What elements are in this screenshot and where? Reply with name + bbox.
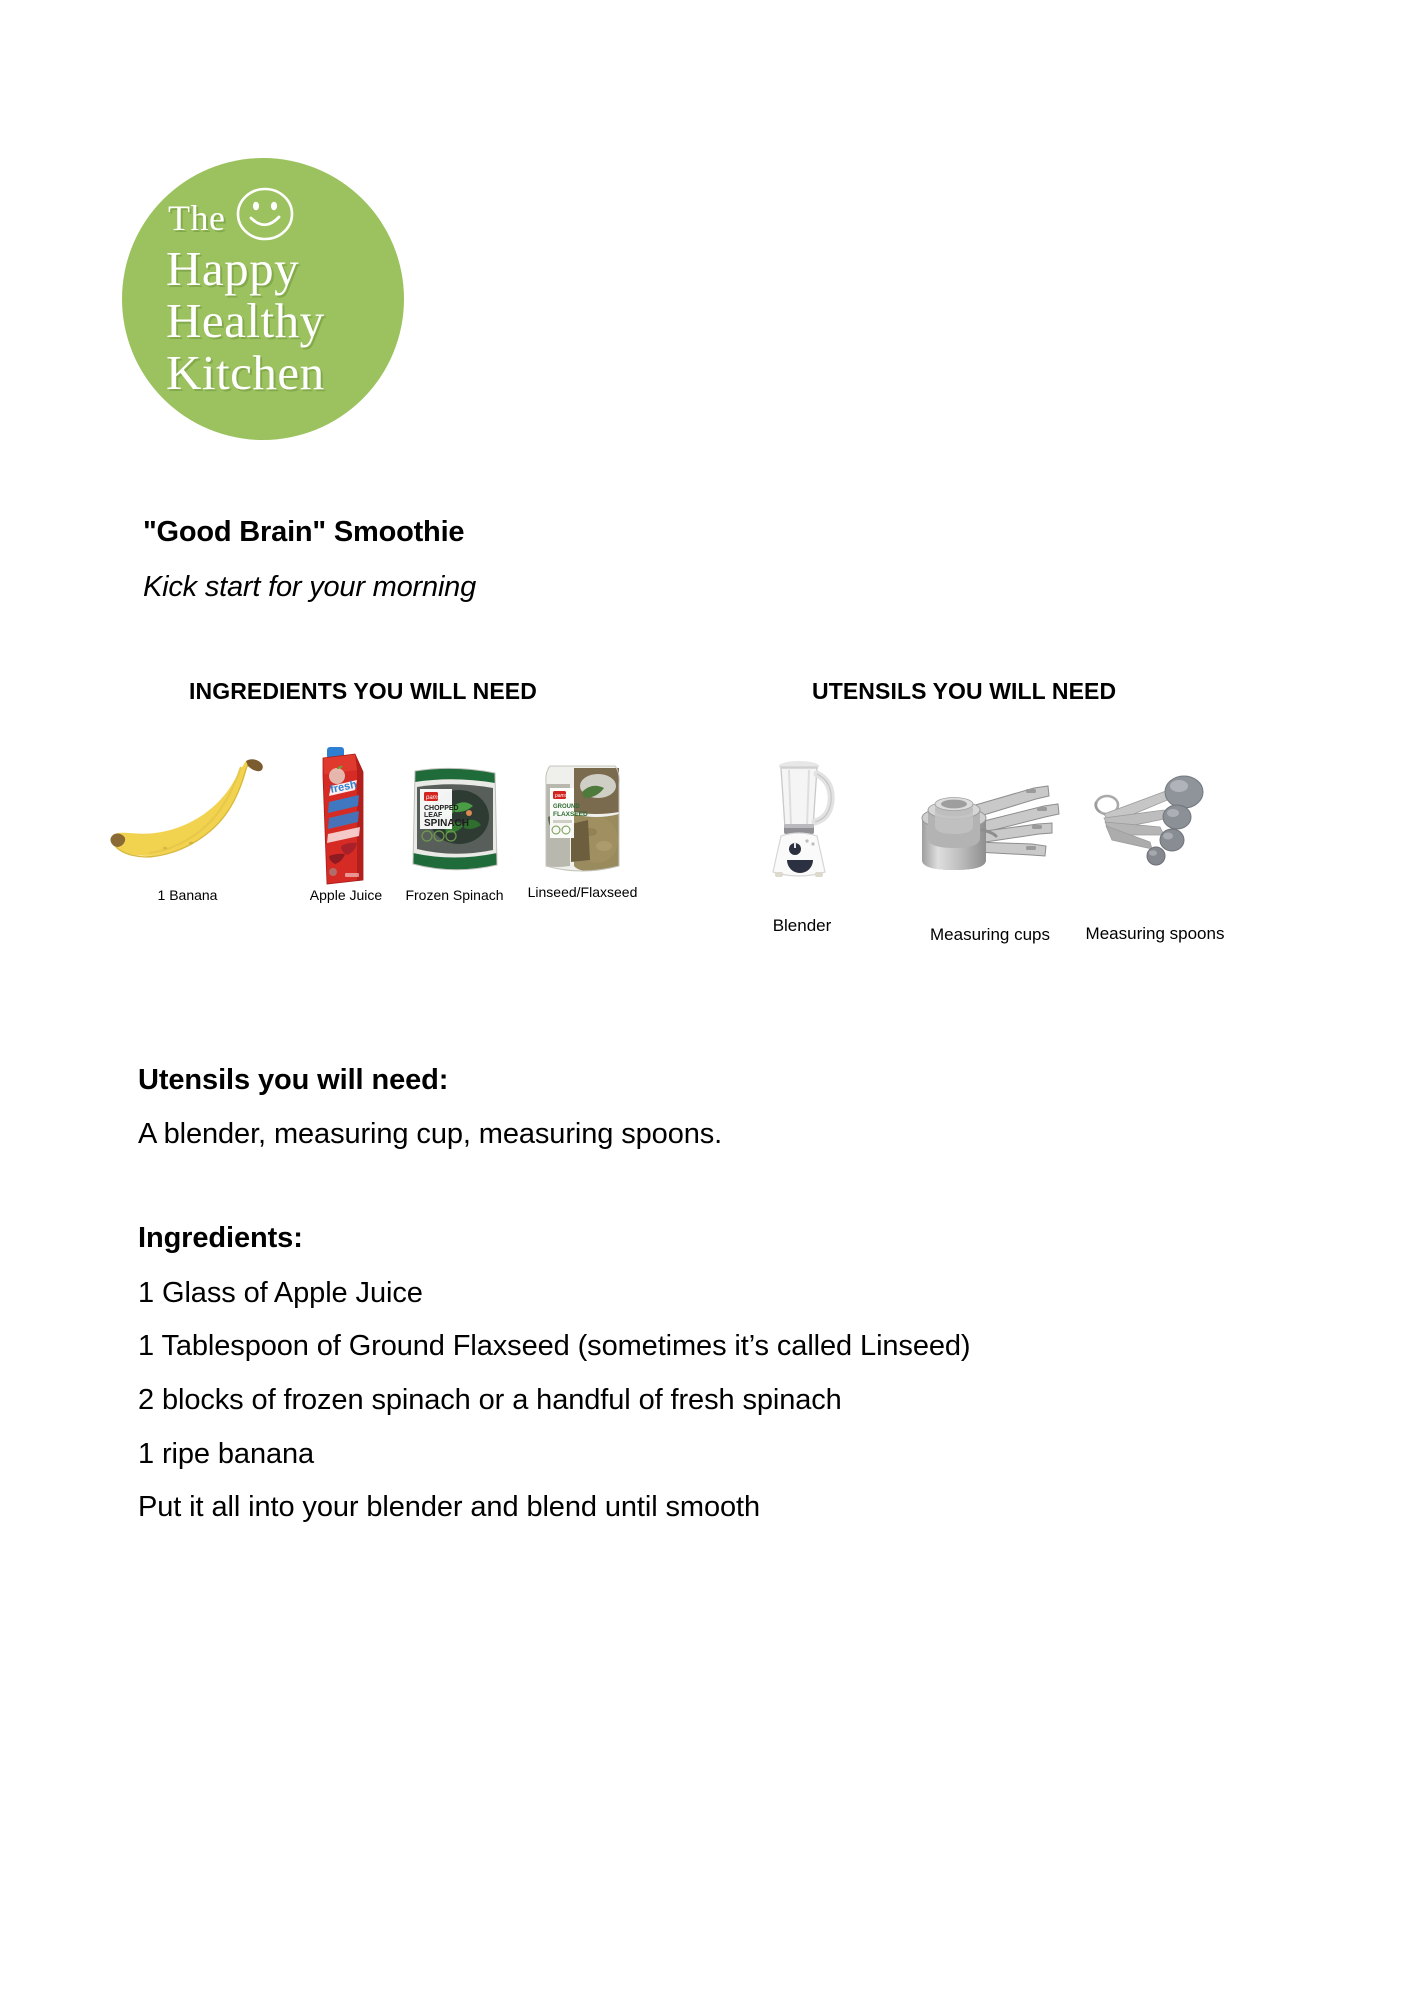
juice-carton-icon: fresh — [311, 746, 381, 886]
apple-juice-art: fresh — [311, 746, 381, 886]
banana-icon — [105, 755, 270, 880]
utensils-section-heading: Utensils you will need: — [138, 1064, 448, 1097]
blender-icon — [765, 756, 839, 888]
svg-text:SPINACH: SPINACH — [424, 818, 469, 829]
ingredient-item-flaxseed: pams GROUND FLAXSEED Linseed/Flaxseed — [540, 762, 625, 880]
svg-text:pams: pams — [425, 795, 441, 801]
svg-text:pams: pams — [554, 793, 568, 799]
ingredient-line: 2 blocks of frozen spinach or a handful … — [138, 1384, 842, 1417]
utensils-panel-heading: UTENSILS YOU WILL NEED — [812, 678, 1116, 705]
logo-word-the: The — [168, 200, 225, 236]
spinach-bag-icon: pams CHOPPED LEAF SPINACH — [407, 765, 502, 877]
svg-text:GROUND: GROUND — [553, 804, 580, 810]
measuring-cups-art — [906, 770, 1074, 884]
ingredient-item-banana: 1 Banana — [105, 755, 270, 880]
ingredient-caption-flaxseed: Linseed/Flaxseed — [528, 884, 638, 900]
ingredient-line: 1 ripe banana — [138, 1438, 314, 1471]
svg-text:FLAXSEED: FLAXSEED — [553, 811, 588, 818]
ingredient-item-frozen-spinach: pams CHOPPED LEAF SPINACH Frozen Spinach — [407, 765, 502, 877]
utensil-item-measuring-cups: Measuring cups — [906, 770, 1074, 884]
smiley-face-icon — [234, 186, 296, 242]
svg-text:CHOPPED: CHOPPED — [424, 805, 459, 812]
frozen-spinach-art: pams CHOPPED LEAF SPINACH — [407, 765, 502, 877]
ingredient-line: 1 Glass of Apple Juice — [138, 1277, 423, 1310]
ingredient-line: Put it all into your blender and blend u… — [138, 1491, 760, 1524]
utensil-caption-measuring-spoons: Measuring spoons — [1086, 924, 1225, 944]
ingredient-caption-banana: 1 Banana — [158, 887, 218, 903]
measuring-spoons-icon — [1080, 772, 1230, 884]
utensils-section-text: A blender, measuring cup, measuring spoo… — [138, 1118, 722, 1151]
blender-art — [765, 756, 839, 888]
logo-wordmark: The Happy Healthy Kitchen — [122, 158, 404, 440]
ingredients-panel-heading: INGREDIENTS YOU WILL NEED — [189, 678, 537, 705]
ingredients-section-heading: Ingredients: — [138, 1222, 303, 1255]
ingredient-line: 1 Tablespoon of Ground Flaxseed (sometim… — [138, 1330, 970, 1363]
logo-word-happy: Happy — [166, 244, 299, 293]
ingredient-caption-frozen-spinach: Frozen Spinach — [405, 887, 503, 903]
logo-word-healthy: Healthy — [166, 296, 325, 345]
utensil-item-blender: Blender — [765, 756, 839, 888]
utensil-caption-blender: Blender — [773, 916, 832, 936]
measuring-spoons-art — [1080, 772, 1230, 884]
logo-word-kitchen: Kitchen — [166, 348, 325, 397]
ingredient-caption-apple-juice: Apple Juice — [310, 887, 382, 903]
flaxseed-pouch-icon: pams GROUND FLAXSEED — [540, 762, 625, 880]
utensil-item-measuring-spoons: Measuring spoons — [1080, 772, 1230, 884]
flaxseed-art: pams GROUND FLAXSEED — [540, 762, 625, 880]
utensil-caption-measuring-cups: Measuring cups — [930, 925, 1050, 945]
ingredient-item-apple-juice: fresh Apple Juice — [311, 746, 381, 886]
brand-logo: The Happy Healthy Kitchen — [122, 158, 404, 440]
banana-art — [105, 755, 270, 880]
page-subtitle: Kick start for your morning — [143, 571, 476, 604]
measuring-cups-icon — [906, 770, 1074, 884]
page-title: "Good Brain" Smoothie — [143, 516, 464, 549]
